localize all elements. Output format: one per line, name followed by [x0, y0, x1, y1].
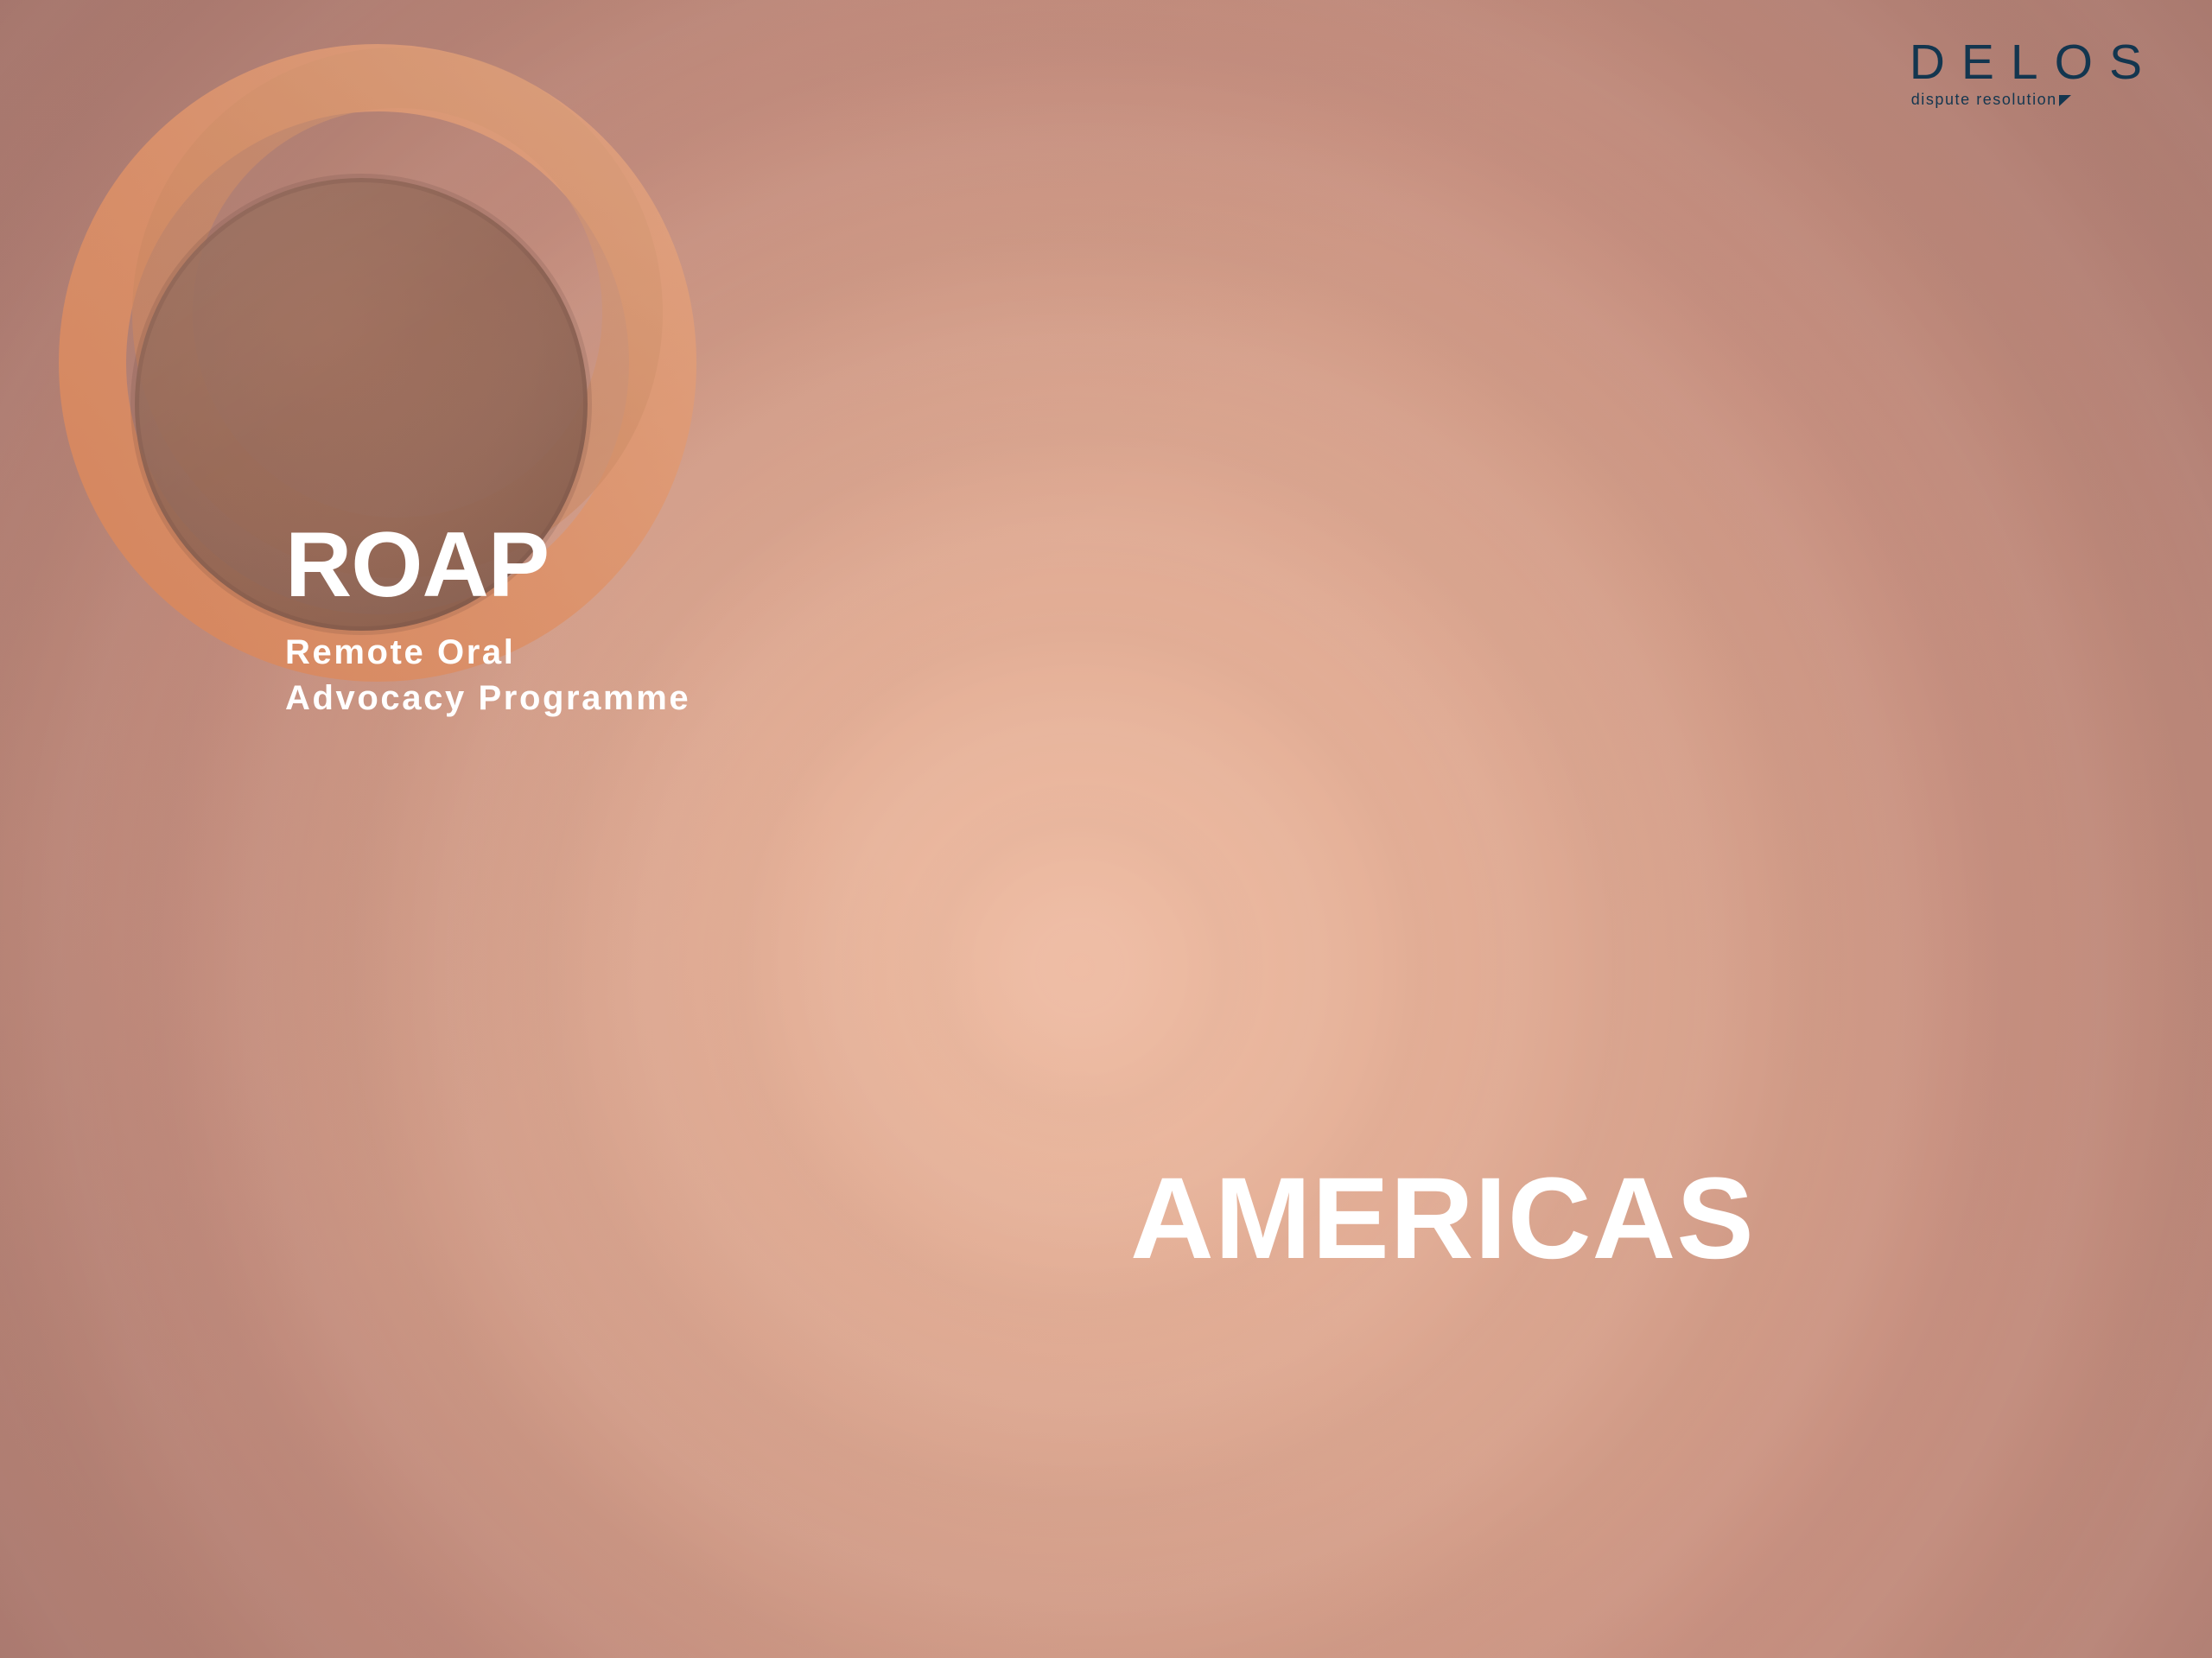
delos-tagline: dispute resolution	[1911, 92, 2057, 107]
delos-tagline-row: dispute resolution	[1911, 92, 2158, 107]
delos-logo: DELOS dispute resolution	[1910, 38, 2158, 107]
slide-canvas: ROAP Remote Oral Advocacy Programme AMER…	[0, 0, 2212, 1658]
programme-title-block: ROAP Remote Oral Advocacy Programme	[285, 518, 890, 721]
programme-subtitle-line-1: Remote Oral	[285, 630, 890, 676]
region-title: AMERICAS	[1130, 1161, 1755, 1277]
programme-subtitle-line-2: Advocacy Programme	[285, 676, 890, 721]
triangle-mark-icon	[2059, 95, 2071, 106]
delos-wordmark: DELOS	[1910, 38, 2158, 87]
programme-subtitle: Remote Oral Advocacy Programme	[285, 630, 890, 721]
programme-acronym: ROAP	[285, 518, 890, 611]
